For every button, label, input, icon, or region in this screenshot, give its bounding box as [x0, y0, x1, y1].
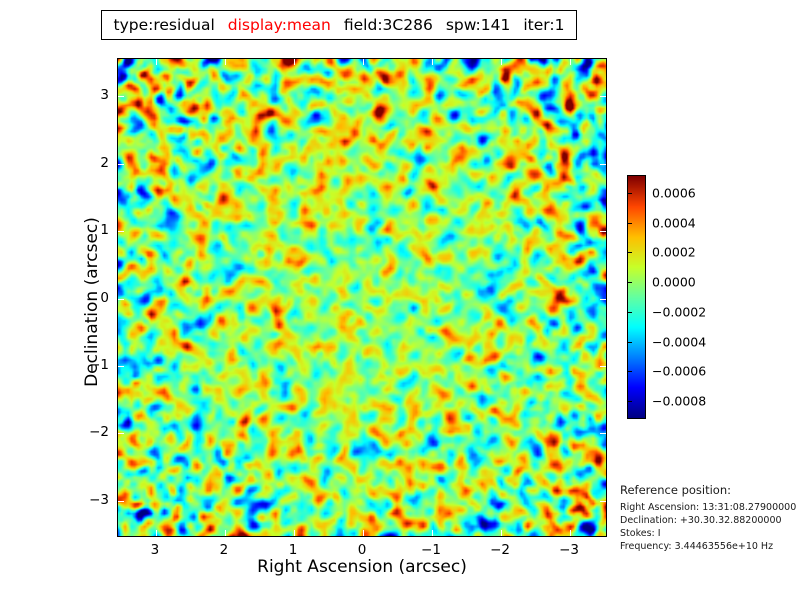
colorbar-tick-label: −0.0002 [652, 304, 706, 319]
colorbar-tick-mark [627, 401, 632, 402]
reference-right-ascension: Right Ascension: 13:31:08.27900000 [620, 501, 800, 514]
x-tick-mark [570, 530, 571, 536]
reference-frequency: Frequency: 3.44463556e+10 Hz [620, 540, 800, 553]
y-tick-label: −2 [77, 424, 109, 440]
x-tick-mark [501, 530, 502, 536]
colorbar-tick-label: −0.0006 [652, 364, 706, 379]
title-segment-1: display:mean [228, 16, 331, 34]
x-tick-mark [156, 530, 157, 536]
colorbar-tick-label: 0.0000 [652, 275, 696, 290]
x-tick-label: 0 [358, 542, 367, 558]
y-tick-label: −1 [77, 357, 109, 373]
colorbar-gradient [627, 175, 646, 419]
x-tick-mark-top [225, 59, 226, 65]
y-tick-mark-right [600, 231, 606, 232]
x-tick-label: −1 [421, 542, 441, 558]
colorbar-tick-label: −0.0004 [652, 334, 706, 349]
title-box: type:residualdisplay:meanfield:3C286spw:… [101, 10, 577, 40]
x-tick-mark-top [501, 59, 502, 65]
colorbar-tick-mark [627, 252, 632, 253]
y-tick-mark-right [600, 299, 606, 300]
colorbar-tick-mark [627, 342, 632, 343]
x-tick-mark-top [432, 59, 433, 65]
residual-image-canvas[interactable] [118, 59, 606, 536]
x-tick-mark-top [294, 59, 295, 65]
x-tick-mark [225, 530, 226, 536]
x-tick-mark-top [363, 59, 364, 65]
y-tick-mark-right [600, 433, 606, 434]
y-tick-mark-right [600, 501, 606, 502]
colorbar-tick-mark [627, 193, 632, 194]
colorbar-tick-mark [627, 312, 632, 313]
y-tick-mark [118, 231, 124, 232]
y-tick-mark [118, 96, 124, 97]
colorbar-tick-mark [627, 371, 632, 372]
y-tick-label: 0 [77, 290, 109, 306]
y-tick-mark [118, 433, 124, 434]
x-tick-mark [432, 530, 433, 536]
y-tick-label: 2 [77, 155, 109, 171]
colorbar-tick-label: 0.0002 [652, 245, 696, 260]
reference-position-block: Reference position: Right Ascension: 13:… [620, 483, 800, 553]
title-segment-3: spw:141 [446, 16, 511, 34]
colorbar-tick-label: 0.0006 [652, 185, 696, 200]
x-tick-label: 2 [220, 542, 229, 558]
colorbar-tick-mark [627, 282, 632, 283]
colorbar-tick-mark [627, 223, 632, 224]
y-tick-mark [118, 501, 124, 502]
x-tick-label: −3 [559, 542, 579, 558]
x-tick-mark [294, 530, 295, 536]
y-tick-label: −3 [77, 492, 109, 508]
x-tick-label: 3 [151, 542, 160, 558]
x-tick-label: 1 [289, 542, 298, 558]
title-segment-0: type:residual [114, 16, 215, 34]
x-tick-mark-top [156, 59, 157, 65]
y-tick-mark [118, 164, 124, 165]
colorbar[interactable]: 0.00060.00040.00020.0000−0.0002−0.0004−0… [627, 175, 646, 419]
y-tick-label: 1 [77, 222, 109, 238]
y-tick-label: 3 [77, 87, 109, 103]
x-tick-mark [363, 530, 364, 536]
colorbar-tick-label: 0.0004 [652, 215, 696, 230]
x-tick-label: −2 [490, 542, 510, 558]
reference-position-heading: Reference position: [620, 483, 800, 497]
y-tick-mark-right [600, 164, 606, 165]
y-tick-mark [118, 366, 124, 367]
y-tick-mark-right [600, 366, 606, 367]
y-tick-mark-right [600, 96, 606, 97]
reference-stokes: Stokes: I [620, 527, 800, 540]
reference-declination: Declination: +30.30.32.88200000 [620, 514, 800, 527]
title-segment-2: field:3C286 [344, 16, 433, 34]
title-segment-4: iter:1 [523, 16, 564, 34]
x-tick-mark-top [570, 59, 571, 65]
x-axis-label: Right Ascension (arcsec) [117, 557, 607, 577]
colorbar-tick-label: −0.0008 [652, 394, 706, 409]
y-tick-mark [118, 299, 124, 300]
image-plot-frame[interactable] [117, 58, 607, 537]
